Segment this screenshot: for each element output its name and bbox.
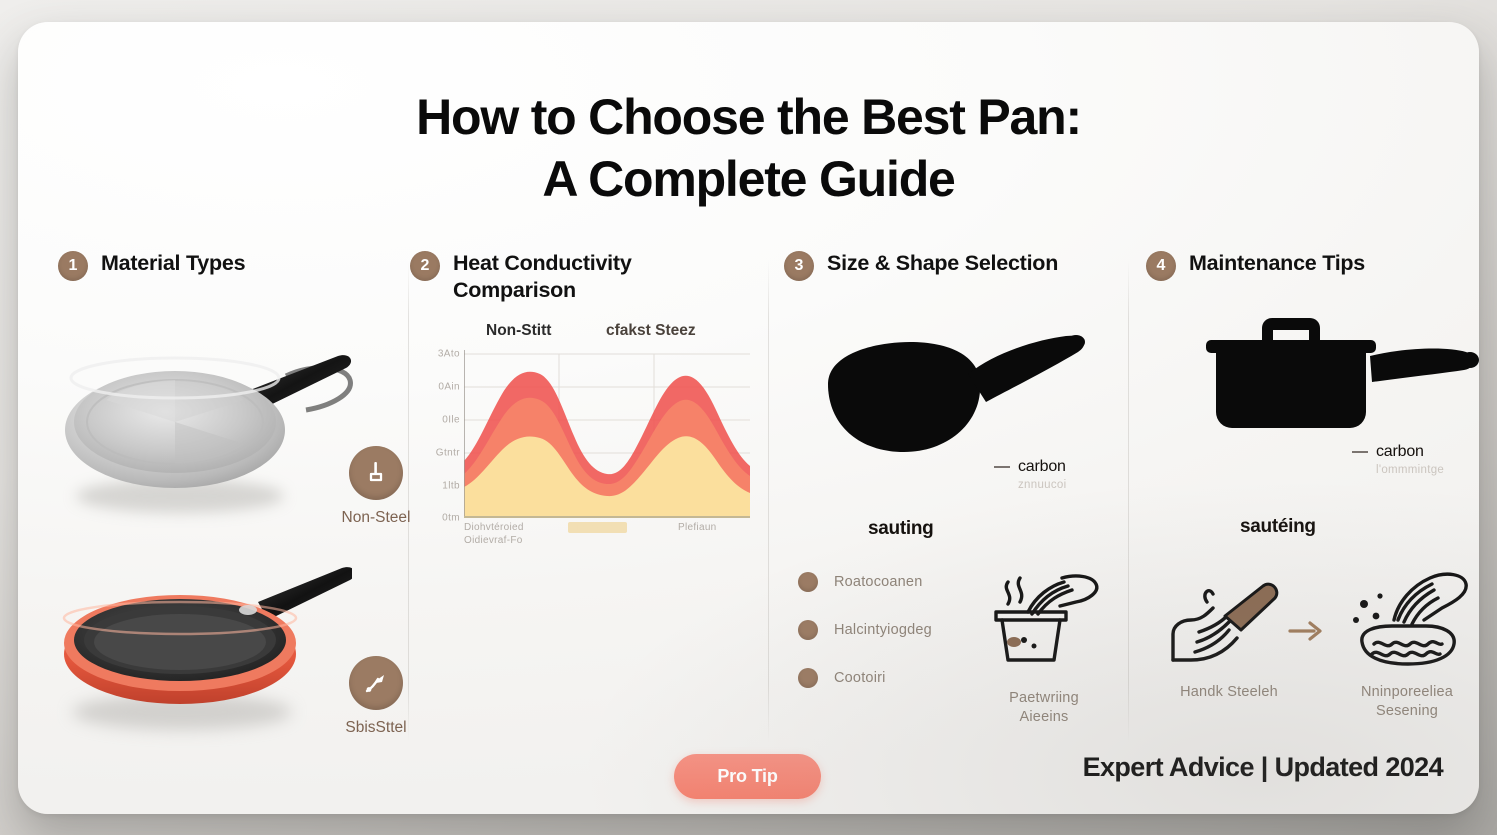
x-tick-2: Plefiaun bbox=[678, 522, 717, 533]
section-heat-conductivity: 2 Heat Conductivity Comparison Non-Stitt… bbox=[410, 250, 762, 742]
section-4-title: Maintenance Tips bbox=[1189, 250, 1365, 277]
section-3-number-badge: 3 bbox=[784, 251, 814, 281]
list-item: Roatocoanen bbox=[798, 572, 932, 592]
chart-legend: Non-Stitt cfakst Steez bbox=[418, 322, 756, 348]
section-1-header: 1 Material Types bbox=[58, 250, 388, 281]
page-title: How to Choose the Best Pan: A Complete G… bbox=[18, 86, 1479, 210]
x-tick-0: Diohvtéroied Oidievraf-Fo bbox=[464, 522, 524, 546]
arrow-right-icon bbox=[1288, 620, 1324, 647]
section-2-number-badge: 2 bbox=[410, 251, 440, 281]
skillet-caption: sauting bbox=[868, 518, 933, 540]
saucepan-annotation: carbon l'ommmintge bbox=[1352, 443, 1444, 476]
bullet-dot-icon bbox=[798, 572, 818, 592]
hand-seasoning-illustration: Nninporeeliea Sesening bbox=[1332, 568, 1479, 721]
chart-legend-item-1: Non-Stitt bbox=[486, 322, 551, 340]
section-4-header: 4 Maintenance Tips bbox=[1146, 250, 1478, 281]
saucepan-with-lid-silhouette bbox=[1180, 310, 1479, 460]
y-tick-1: 0Ain bbox=[438, 382, 460, 393]
y-tick-2: 0Ile bbox=[442, 415, 460, 426]
nonstick-pan-image bbox=[52, 550, 352, 750]
annotation-sublabel: znnuucoi bbox=[1018, 479, 1066, 491]
skillet-annotation: carbon znnuucoi bbox=[994, 458, 1066, 491]
section-3-title: Size & Shape Selection bbox=[827, 250, 1058, 277]
hand-with-brush-caption-line1: Handk Steeleh bbox=[1180, 684, 1278, 700]
x-tick-1: ainnnivoniiio bbox=[568, 522, 627, 533]
hand-with-brush-illustration: Handk Steeleh bbox=[1154, 572, 1304, 702]
bullet-dot-icon bbox=[798, 620, 818, 640]
chart-plot-area bbox=[464, 350, 750, 518]
y-tick-3: Gtntr bbox=[436, 448, 460, 459]
chart-y-axis: 3Ato 0Ain 0Ile Gtntr 1ltb 0tm bbox=[418, 350, 460, 518]
x-tick-0-line1: Diohvtéroied bbox=[464, 522, 524, 533]
size-shape-bullet-list: Roatocoanen Halcintyiogdeg Cootoiri bbox=[798, 572, 932, 716]
annotation-dash-icon bbox=[994, 466, 1010, 468]
section-material-types: 1 Material Types bbox=[58, 250, 388, 742]
stainless-steel-pan-image bbox=[54, 318, 354, 528]
list-item: Cootoiri bbox=[798, 668, 932, 688]
y-tick-0: 3Ato bbox=[438, 349, 460, 360]
section-2-title: Heat Conductivity Comparison bbox=[453, 250, 703, 304]
section-3-header: 3 Size & Shape Selection bbox=[784, 250, 1124, 281]
hand-seasoning-caption-line2: Sesening bbox=[1376, 703, 1438, 719]
whisk-icon bbox=[349, 656, 403, 710]
x-tick-0-line2: Oidievraf-Fo bbox=[464, 535, 524, 546]
hand-with-brush-icon bbox=[1167, 572, 1292, 672]
annotation-label: carbon bbox=[1376, 443, 1424, 460]
section-2-header: 2 Heat Conductivity Comparison bbox=[410, 250, 762, 304]
bullet-dot-icon bbox=[798, 668, 818, 688]
steaming-pot-illustration: Paetwriing Aieeins bbox=[974, 568, 1114, 727]
y-tick-5: 0tm bbox=[442, 513, 460, 524]
hand-seasoning-pan-icon bbox=[1342, 568, 1472, 672]
section-maintenance-tips: 4 Maintenance Tips carbon l'ommmintge sa… bbox=[1146, 250, 1478, 742]
hand-seasoning-caption: Nninporeeliea Sesening bbox=[1332, 683, 1479, 721]
section-1-title: Material Types bbox=[101, 250, 245, 277]
steaming-pot-caption-line2: Aieeins bbox=[1020, 709, 1069, 725]
steaming-pot-caption-line1: Paetwriing bbox=[1009, 690, 1079, 706]
list-item: Halcintyiogdeg bbox=[798, 620, 932, 640]
section-4-number-badge: 4 bbox=[1146, 251, 1176, 281]
infographic-card: How to Choose the Best Pan: A Complete G… bbox=[18, 22, 1479, 814]
heat-conductivity-chart: Non-Stitt cfakst Steez 3Ato 0Ain 0Ile Gt… bbox=[418, 322, 756, 552]
annotation-label: carbon bbox=[1018, 458, 1066, 475]
section-size-shape: 3 Size & Shape Selection carbon znnuucoi… bbox=[784, 250, 1124, 742]
footer-note: Expert Advice | Updated 2024 bbox=[1083, 752, 1443, 783]
y-tick-4: 1ltb bbox=[442, 481, 460, 492]
hand-with-brush-caption: Handk Steeleh bbox=[1154, 683, 1304, 702]
pro-tip-badge[interactable]: Pro Tip bbox=[674, 754, 821, 799]
title-line-2: A Complete Guide bbox=[18, 148, 1479, 210]
steaming-pot-caption: Paetwriing Aieeins bbox=[974, 689, 1114, 727]
saucepan-caption: sautéing bbox=[1240, 516, 1316, 538]
hand-seasoning-caption-line1: Nninporeeliea bbox=[1361, 684, 1453, 700]
bullet-text: Halcintyiogdeg bbox=[834, 622, 932, 638]
bullet-text: Cootoiri bbox=[834, 670, 886, 686]
spatula-icon bbox=[349, 446, 403, 500]
column-divider-2 bbox=[768, 260, 769, 742]
column-divider-3 bbox=[1128, 260, 1129, 742]
section-1-number-badge: 1 bbox=[58, 251, 88, 281]
annotation-dash-icon bbox=[1352, 451, 1368, 453]
chart-legend-item-2: cfakst Steez bbox=[606, 322, 696, 340]
annotation-sublabel: l'ommmintge bbox=[1376, 464, 1444, 476]
hand-over-steaming-pot-icon bbox=[984, 568, 1104, 678]
bullet-text: Roatocoanen bbox=[834, 574, 922, 590]
skillet-silhouette bbox=[800, 326, 1090, 466]
title-line-1: How to Choose the Best Pan: bbox=[416, 89, 1081, 145]
